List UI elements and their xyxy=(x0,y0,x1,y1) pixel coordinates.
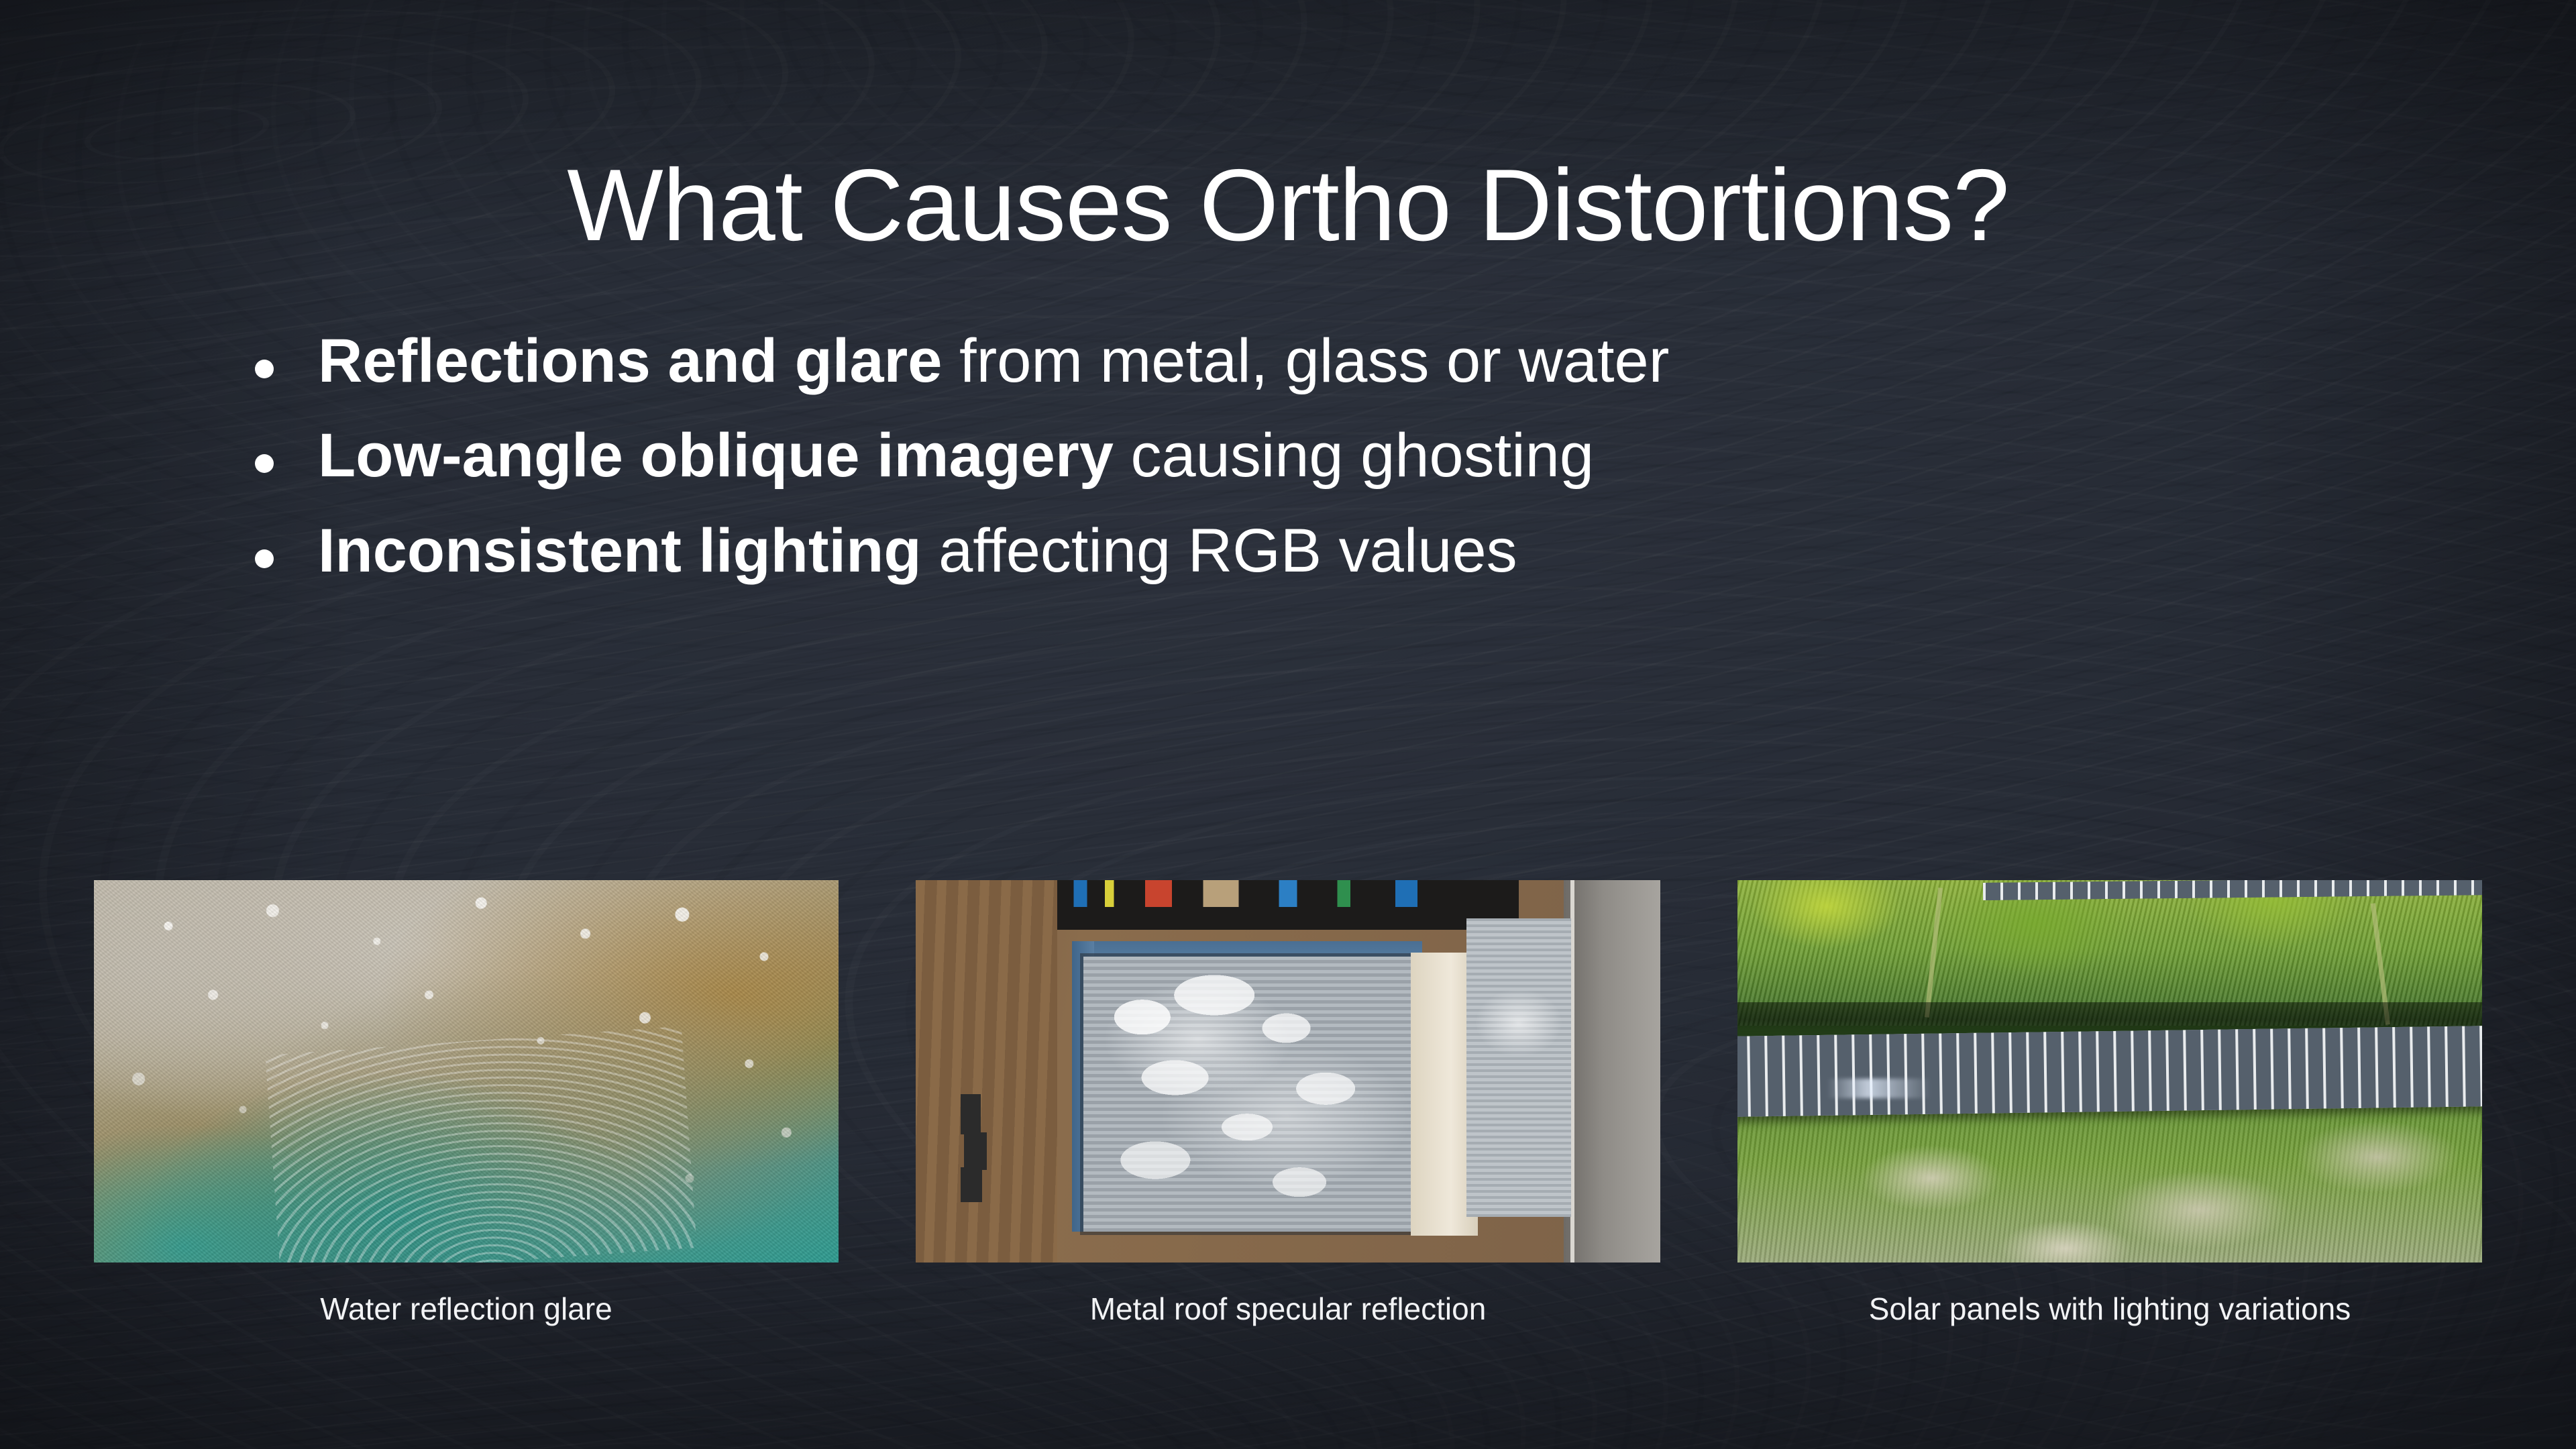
figure-row: Water reflection glare xyxy=(67,869,2509,1337)
figure-image-metal-roof xyxy=(916,880,1660,1263)
site-equipment xyxy=(961,1167,982,1202)
list-item: Inconsistent lighting affecting RGB valu… xyxy=(255,511,2348,592)
figure-metal-roof: Metal roof specular reflection xyxy=(916,880,1660,1326)
paved-road-right xyxy=(1564,880,1660,1263)
aerial-solar-field-photo xyxy=(1737,880,2482,1263)
site-equipment xyxy=(964,1132,987,1170)
photo-grain xyxy=(94,880,839,1263)
bullet-list: Reflections and glare from metal, glass … xyxy=(255,321,2348,605)
figure-image-water-reflection xyxy=(94,880,839,1263)
page-title: What Causes Ortho Distortions? xyxy=(0,154,2576,256)
list-item: Reflections and glare from metal, glass … xyxy=(255,321,2348,402)
figure-image-solar-panels xyxy=(1737,880,2482,1263)
figure-water-reflection: Water reflection glare xyxy=(94,880,839,1326)
dirt-ground-left xyxy=(916,880,1057,1263)
bullet-emphasis: Low-angle oblique imagery xyxy=(318,421,1114,490)
list-item: Low-angle oblique imagery causing ghosti… xyxy=(255,415,2348,496)
bullet-emphasis: Inconsistent lighting xyxy=(318,517,922,585)
bullet-emphasis: Reflections and glare xyxy=(318,327,942,395)
figure-caption: Metal roof specular reflection xyxy=(916,1292,1660,1326)
figure-solar-panels: Solar panels with lighting variations xyxy=(1737,880,2482,1326)
specular-highlight-blotches xyxy=(1083,957,1411,1232)
slide-canvas: What Causes Ortho Distortions? Reflectio… xyxy=(0,0,2576,1449)
aerial-shoreline-photo xyxy=(94,880,839,1263)
metal-roof-main xyxy=(1083,957,1411,1232)
bullet-remainder: from metal, glass or water xyxy=(942,327,1669,395)
aerial-construction-photo xyxy=(916,880,1660,1263)
construction-materials xyxy=(1065,880,1511,907)
bullet-remainder: causing ghosting xyxy=(1114,421,1594,490)
bullet-dot-icon xyxy=(255,454,274,473)
bullet-text: Low-angle oblique imagery causing ghosti… xyxy=(318,415,2348,496)
bullet-text: Inconsistent lighting affecting RGB valu… xyxy=(318,511,2348,592)
site-equipment xyxy=(961,1094,981,1134)
bullet-dot-icon xyxy=(255,360,274,378)
solar-panel-row-main xyxy=(1737,1026,2482,1116)
bullet-dot-icon xyxy=(255,549,274,568)
road-edge-line xyxy=(1570,880,1574,1263)
metal-roof-secondary xyxy=(1466,918,1570,1217)
slide-content: What Causes Ortho Distortions? Reflectio… xyxy=(0,0,2576,1449)
panel-glare-highlight xyxy=(1827,1079,1931,1098)
figure-caption: Solar panels with lighting variations xyxy=(1737,1292,2482,1326)
figure-caption: Water reflection glare xyxy=(94,1292,839,1326)
bullet-text: Reflections and glare from metal, glass … xyxy=(318,321,2348,402)
bullet-remainder: affecting RGB values xyxy=(922,517,1517,585)
